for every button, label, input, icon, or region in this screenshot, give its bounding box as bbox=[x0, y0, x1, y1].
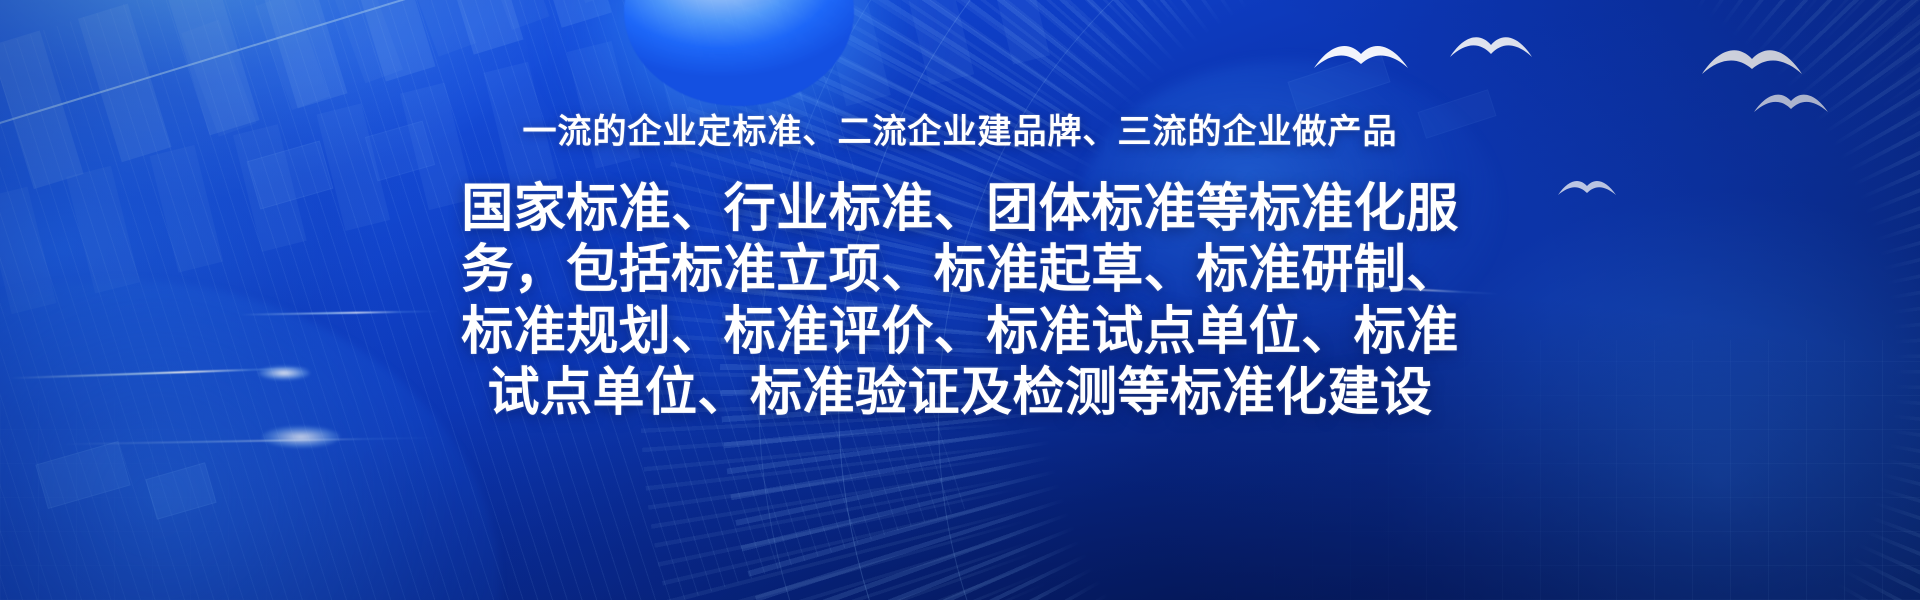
banner-body-text: 国家标准、行业标准、团体标准等标准化服务，包括标准立项、标准起草、标准研制、标准… bbox=[440, 179, 1480, 424]
banner-text-block: 一流的企业定标准、二流企业建品牌、三流的企业做产品 国家标准、行业标准、团体标准… bbox=[0, 0, 1920, 600]
banner-hero: 一流的企业定标准、二流企业建品牌、三流的企业做产品 国家标准、行业标准、团体标准… bbox=[0, 0, 1920, 600]
banner-headline: 一流的企业定标准、二流企业建品牌、三流的企业做产品 bbox=[523, 112, 1398, 153]
